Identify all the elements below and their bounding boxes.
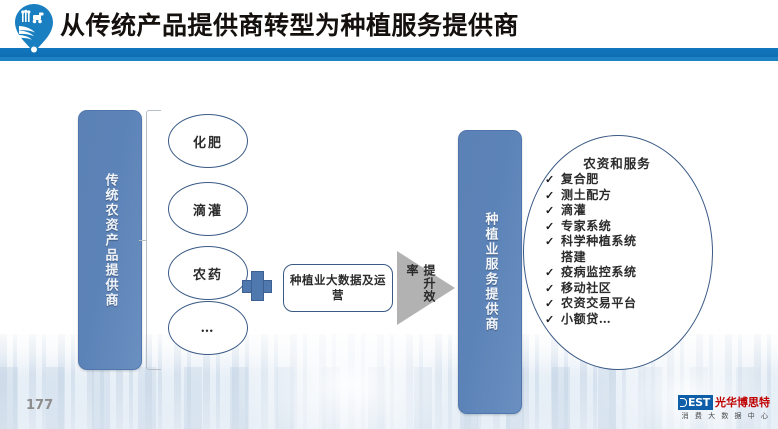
slide-canvas: 从传统产品提供商转型为种植服务提供商 传统农资产品提供商 化肥 滴灌 农药 … … bbox=[0, 0, 778, 429]
service-list-item-label: 科学种植系统 bbox=[561, 234, 637, 250]
service-list-item: ✓农资交易平台 bbox=[545, 296, 705, 312]
service-list-item: ✓科学种植系统 bbox=[545, 234, 705, 250]
service-list-item-label: 专家系统 bbox=[561, 219, 611, 235]
service-provider-box-inner: 种植业服务提供商 bbox=[459, 131, 521, 413]
efficiency-arrow-label-wrap: 提升效率 bbox=[403, 264, 437, 312]
check-icon: ✓ bbox=[545, 172, 556, 188]
input-item-drip-irrigation[interactable]: 滴灌 bbox=[168, 182, 248, 236]
check-icon: ✓ bbox=[545, 203, 556, 219]
page-number: 177 bbox=[26, 398, 53, 413]
service-list-item-label: 搭建 bbox=[561, 250, 586, 266]
service-list-item-label: 疫病监控系统 bbox=[561, 265, 637, 281]
check-icon: ✓ bbox=[545, 219, 556, 235]
brand-subtitle: 消 费 大 数 据 中 心 bbox=[666, 411, 770, 421]
traditional-provider-box[interactable]: 传统农资产品提供商 bbox=[78, 110, 142, 370]
efficiency-arrow: 提升效率 bbox=[397, 251, 455, 325]
service-list-item: ✓测土配方 bbox=[545, 188, 705, 204]
services-heading: 农资和服务 bbox=[523, 153, 711, 172]
service-list-item-label: 小额贷… bbox=[561, 312, 611, 328]
service-list-item: ✓小额贷… bbox=[545, 312, 705, 328]
service-list-item: ✓移动社区 bbox=[545, 281, 705, 297]
traditional-provider-label: 传统农资产品提供商 bbox=[102, 173, 119, 308]
service-list-item-label: 移动社区 bbox=[561, 281, 611, 297]
plus-icon bbox=[242, 271, 270, 299]
agriculture-pin-icon bbox=[12, 3, 56, 55]
diagram-area: 传统农资产品提供商 化肥 滴灌 农药 … 种植业大数据及运营 提升效率 bbox=[0, 58, 778, 358]
check-icon: ✓ bbox=[545, 281, 556, 297]
input-item-fertilizer[interactable]: 化肥 bbox=[168, 114, 248, 168]
input-item-label: 滴灌 bbox=[193, 200, 223, 219]
brand-logo: EST 光华博思特 消 费 大 数 据 中 心 bbox=[666, 394, 770, 422]
brand-logo-row: EST 光华博思特 bbox=[666, 394, 770, 410]
input-item-label: 农药 bbox=[193, 264, 223, 283]
service-list-item-label: 测土配方 bbox=[561, 188, 611, 204]
efficiency-arrow-label: 提升效率 bbox=[403, 264, 437, 312]
service-list-item: ✓复合肥 bbox=[545, 172, 705, 188]
brand-name: 光华博思特 bbox=[715, 394, 770, 410]
check-icon: ✓ bbox=[545, 188, 556, 204]
bigdata-operations-label: 种植业大数据及运营 bbox=[290, 273, 386, 303]
service-list-item: ✓疫病监控系统 bbox=[545, 265, 705, 281]
service-list-item-label: 复合肥 bbox=[561, 172, 599, 188]
service-provider-box[interactable]: 种植业服务提供商 bbox=[458, 130, 522, 414]
service-list-item-label: 农资交易平台 bbox=[561, 296, 637, 312]
input-item-more[interactable]: … bbox=[168, 301, 248, 355]
bigdata-operations-box[interactable]: 种植业大数据及运营 bbox=[283, 264, 393, 312]
input-item-pesticide[interactable]: 农药 bbox=[168, 246, 248, 300]
input-item-label: … bbox=[201, 321, 216, 336]
input-item-label: 化肥 bbox=[193, 132, 223, 151]
traditional-provider-box-inner: 传统农资产品提供商 bbox=[79, 111, 141, 369]
services-list: ✓复合肥✓测土配方✓滴灌✓专家系统✓科学种植系统✓搭建✓疫病监控系统✓移动社区✓… bbox=[545, 172, 705, 327]
check-icon: ✓ bbox=[545, 265, 556, 281]
brand-mark-icon: EST bbox=[678, 395, 713, 410]
service-list-item: ✓搭建 bbox=[545, 250, 705, 266]
input-bracket bbox=[146, 110, 161, 370]
service-provider-label: 种植业服务提供商 bbox=[482, 212, 499, 332]
service-list-item: ✓专家系统 bbox=[545, 219, 705, 235]
page-title: 从传统产品提供商转型为种植服务提供商 bbox=[60, 6, 519, 42]
check-icon: ✓ bbox=[545, 312, 556, 328]
check-icon: ✓ bbox=[545, 296, 556, 312]
service-list-item: ✓滴灌 bbox=[545, 203, 705, 219]
service-list-item-label: 滴灌 bbox=[561, 203, 586, 219]
check-icon: ✓ bbox=[545, 234, 556, 250]
